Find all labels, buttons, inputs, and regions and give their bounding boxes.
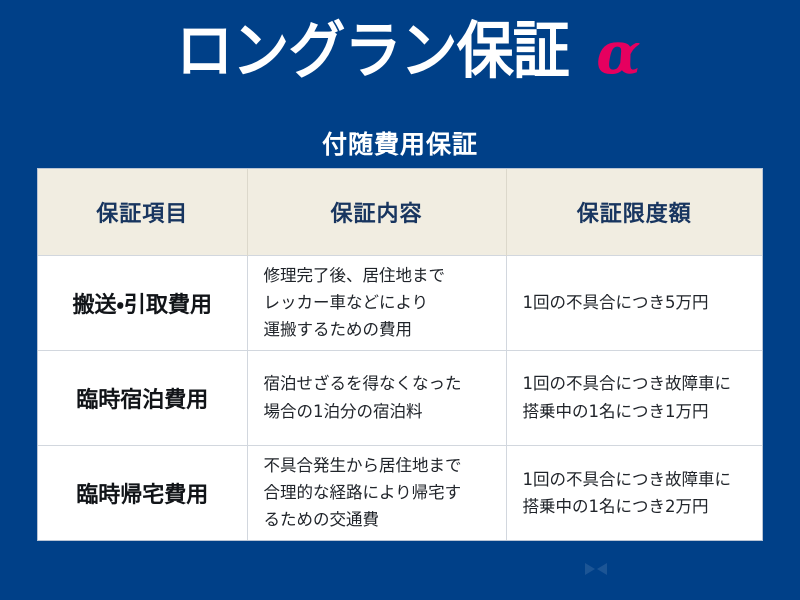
table-row: 臨時宿泊費用 宿泊せざるを得なくなった 場合の1泊分の宿泊料 1回の不具合につき… [38,350,762,445]
cell-limit: 1回の不具合につき5万円 [506,255,762,350]
limit-line: 1回の不具合につき5万円 [523,289,753,316]
page-title: ロングラン保証α [0,18,800,83]
watermark [585,563,614,576]
description-line: るための交通費 [264,506,496,533]
description-line: 宿泊せざるを得なくなった [264,370,496,397]
description-line: 不具合発生から居住地まで [264,452,496,479]
description-line: 場合の1泊分の宿泊料 [264,398,496,425]
table-row: 搬送・引取費用 修理完了後、居住地まで レッカー車などにより 運搬するための費用… [38,255,762,350]
cell-item: 臨時宿泊費用 [38,350,247,445]
cell-limit: 1回の不具合につき故障車に 搭乗中の1名につき2万円 [506,445,762,540]
limit-line: 搭乗中の1名につき2万円 [523,493,753,520]
column-header-item: 保証項目 [38,169,247,255]
guarantee-table-container: 保証項目 保証内容 保証限度額 搬送・引取費用 修理完了後、居住地まで レッカー… [37,168,763,541]
description-line: レッカー車などにより [264,289,496,316]
guarantee-table: 保証項目 保証内容 保証限度額 搬送・引取費用 修理完了後、居住地まで レッカー… [38,169,762,540]
subtitle: 付随費用保証 [0,125,800,161]
table-row: 臨時帰宅費用 不具合発生から居住地まで 合理的な経路により帰宅す るための交通費… [38,445,762,540]
limit-line: 1回の不具合につき故障車に [523,370,753,397]
cell-description: 修理完了後、居住地まで レッカー車などにより 運搬するための費用 [247,255,506,350]
cell-limit: 1回の不具合につき故障車に 搭乗中の1名につき1万円 [506,350,762,445]
watermark-bowtie-icon [585,563,607,576]
limit-line: 搭乗中の1名につき1万円 [523,398,753,425]
title-main-text: ロングラン保証 [176,18,569,83]
cell-description: 不具合発生から居住地まで 合理的な経路により帰宅す るための交通費 [247,445,506,540]
cell-description: 宿泊せざるを得なくなった 場合の1泊分の宿泊料 [247,350,506,445]
column-header-limit: 保証限度額 [506,169,762,255]
table-header-row: 保証項目 保証内容 保証限度額 [38,169,762,255]
cell-item: 搬送・引取費用 [38,255,247,350]
title-alpha-symbol: α [596,24,641,82]
limit-line: 1回の不具合につき故障車に [523,466,753,493]
column-header-content: 保証内容 [247,169,506,255]
table-body: 搬送・引取費用 修理完了後、居住地まで レッカー車などにより 運搬するための費用… [38,255,762,540]
table-header: 保証項目 保証内容 保証限度額 [38,169,762,255]
description-line: 運搬するための費用 [264,316,496,343]
description-line: 修理完了後、居住地まで [264,262,496,289]
slide-root: ロングラン保証α 付随費用保証 保証項目 保証内容 保証限度額 搬送・引取費用 … [0,0,800,600]
description-line: 合理的な経路により帰宅す [264,479,496,506]
cell-item: 臨時帰宅費用 [38,445,247,540]
